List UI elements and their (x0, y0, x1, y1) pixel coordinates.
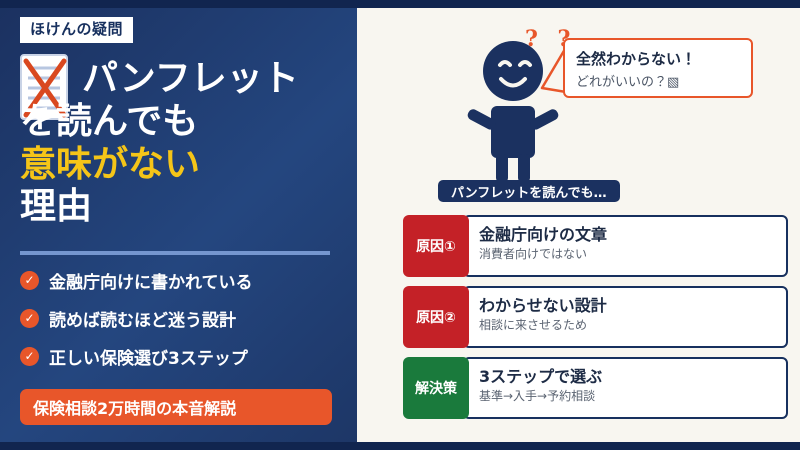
bullet-list: ✓ 金融庁向けに書かれている ✓ 読めば読むほど迷う設計 ✓ 正しい保険選び3ス… (20, 261, 350, 375)
check-circle-icon: ✓ (20, 309, 39, 328)
list-item: ✓ 読めば読むほど迷う設計 (20, 299, 350, 337)
figure-caption-badge: パンフレットを読んでも… (438, 180, 620, 202)
card-title: 金融庁向けの文章 (479, 225, 786, 244)
list-item: ✓ 正しい保険選び3ステップ (20, 337, 350, 375)
card-tag-badge: 原因① (403, 215, 469, 277)
card-tag-badge: 原因② (403, 286, 469, 348)
card-title: 3ステップで選ぶ (479, 367, 786, 386)
card-body: わからせない設計 相談に来させるため (463, 286, 788, 348)
headline-line-4: 理由 (20, 186, 340, 229)
card-title: わからせない設計 (479, 296, 786, 315)
check-circle-icon: ✓ (20, 271, 39, 290)
list-item-label: 読めば読むほど迷う設計 (49, 306, 236, 331)
list-item-label: 金融庁向けに書かれている (49, 268, 253, 293)
card-subtitle: 基準→入手→予約相談 (479, 389, 786, 403)
reason-card-list: 原因① 金融庁向けの文章 消費者向けではない 原因② わからせない設計 相談に来… (403, 215, 788, 428)
solution-card[interactable]: 解決策 3ステップで選ぶ 基準→入手→予約相談 (403, 357, 788, 419)
top-rail (0, 0, 800, 8)
slide-canvas: ほけんの疑問 パンフレット を読んでも 意味がない (0, 0, 800, 450)
kicker-badge: ほけんの疑問 (20, 17, 133, 43)
left-title-panel: ほけんの疑問 パンフレット を読んでも 意味がない (0, 0, 357, 450)
headline-line-2: を読んでも (20, 101, 340, 144)
headline-line-3: 意味がない (20, 144, 340, 187)
list-item: ✓ 金融庁向けに書かれている (20, 261, 350, 299)
card-body: 金融庁向けの文章 消費者向けではない (463, 215, 788, 277)
card-body: 3ステップで選ぶ 基準→入手→予約相談 (463, 357, 788, 419)
card-subtitle: 消費者向けではない (479, 247, 786, 261)
reason-card[interactable]: 原因① 金融庁向けの文章 消費者向けではない (403, 215, 788, 277)
speech-bubble: 全然わからない！ どれがいいの？▧ (563, 38, 753, 98)
card-tag-badge: 解決策 (403, 357, 469, 419)
title-underline-rule (20, 251, 330, 255)
check-circle-icon: ✓ (20, 347, 39, 366)
reason-card[interactable]: 原因② わからせない設計 相談に来させるため (403, 286, 788, 348)
card-subtitle: 相談に来させるため (479, 318, 786, 332)
speech-bubble-primary-text: 全然わからない！ (576, 48, 696, 69)
speech-bubble-secondary-text: どれがいいの？▧ (576, 71, 679, 90)
page-title: パンフレット を読んでも 意味がない 理由 (20, 58, 340, 229)
cta-banner[interactable]: 保険相談2万時間の本音解説 (20, 389, 332, 425)
list-item-label: 正しい保険選び3ステップ (49, 344, 248, 369)
bottom-rail (0, 442, 800, 450)
headline-line-1: パンフレット (20, 58, 340, 101)
